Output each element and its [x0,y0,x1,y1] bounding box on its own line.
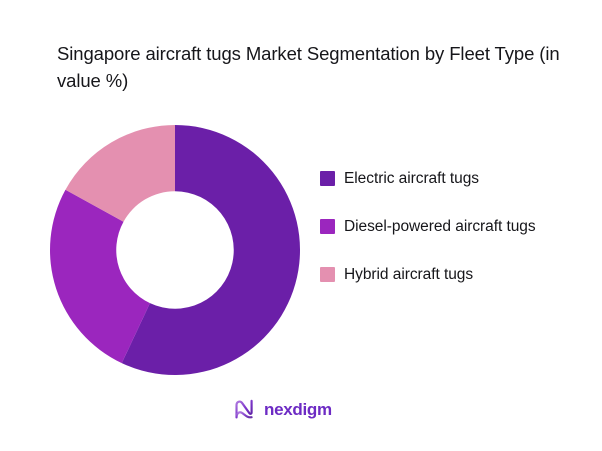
legend-label-hybrid: Hybrid aircraft tugs [344,264,473,286]
legend-item-diesel[interactable]: Diesel-powered aircraft tugs [320,216,590,238]
legend-item-electric[interactable]: Electric aircraft tugs [320,168,590,190]
chart-legend: Electric aircraft tugs Diesel-powered ai… [320,168,590,286]
nexdigm-n-logomark-icon [232,396,258,422]
legend-swatch-icon-diesel [320,219,335,234]
legend-item-hybrid[interactable]: Hybrid aircraft tugs [320,264,590,286]
donut-chart-svg [50,125,300,375]
brand-name: nexdigm [264,401,332,418]
legend-swatch-icon-electric [320,171,335,186]
page-title: Singapore aircraft tugs Market Segmentat… [57,40,587,94]
brand-logo: nexdigm [232,396,332,422]
legend-swatch-icon-hybrid [320,267,335,282]
legend-label-diesel: Diesel-powered aircraft tugs [344,216,536,238]
legend-label-electric: Electric aircraft tugs [344,168,479,190]
chart-page: Singapore aircraft tugs Market Segmentat… [0,0,602,451]
donut-chart [50,125,300,375]
